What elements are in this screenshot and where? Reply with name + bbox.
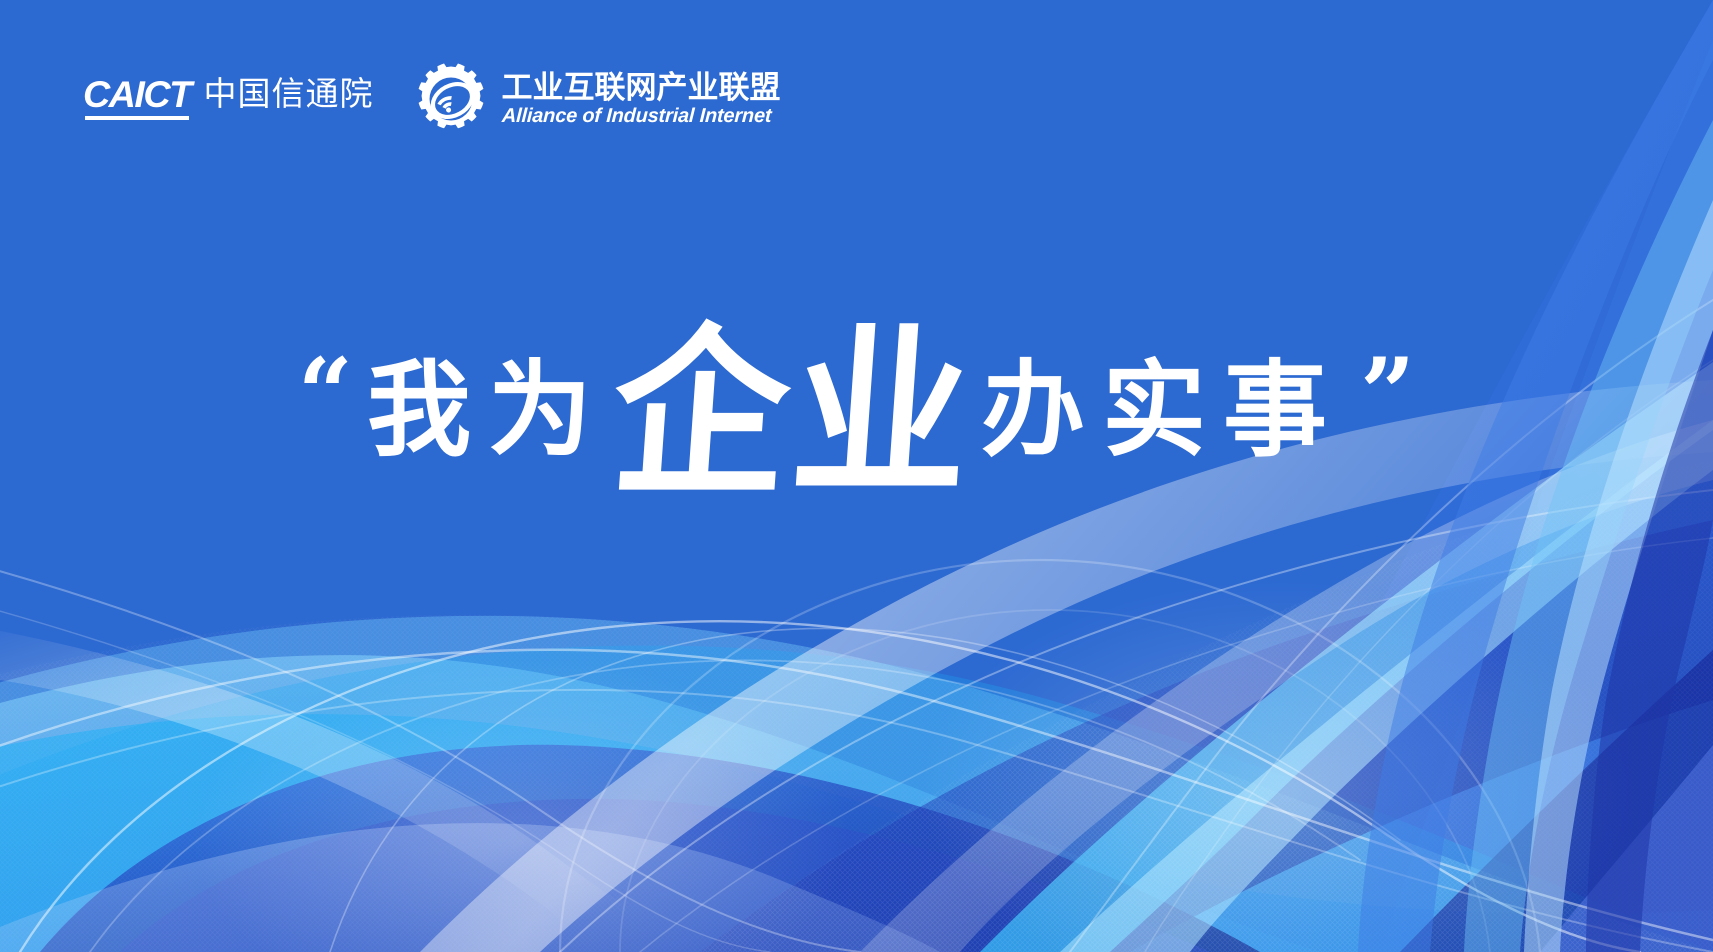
banner-canvas: CAICT 中国信通院 xyxy=(0,0,1713,952)
aii-chinese-name: 工业互联网产业联盟 xyxy=(502,72,781,105)
aii-logo: 工业互联网产业联盟 Alliance of Industrial Interne… xyxy=(414,62,781,136)
caict-chinese-name: 中国信通院 xyxy=(204,77,374,121)
logo-bar: CAICT 中国信通院 xyxy=(84,62,781,136)
aii-text-block: 工业互联网产业联盟 Alliance of Industrial Interne… xyxy=(502,72,781,127)
caict-wordmark-text: CAICT xyxy=(83,77,191,113)
caict-wordmark: CAICT xyxy=(84,77,190,122)
caict-underline-rule xyxy=(85,116,189,120)
aii-english-name: Alliance of Industrial Internet xyxy=(501,106,781,126)
gear-wifi-icon xyxy=(414,62,488,136)
caict-logo: CAICT 中国信通院 xyxy=(84,77,374,122)
background-artwork xyxy=(0,0,1713,952)
